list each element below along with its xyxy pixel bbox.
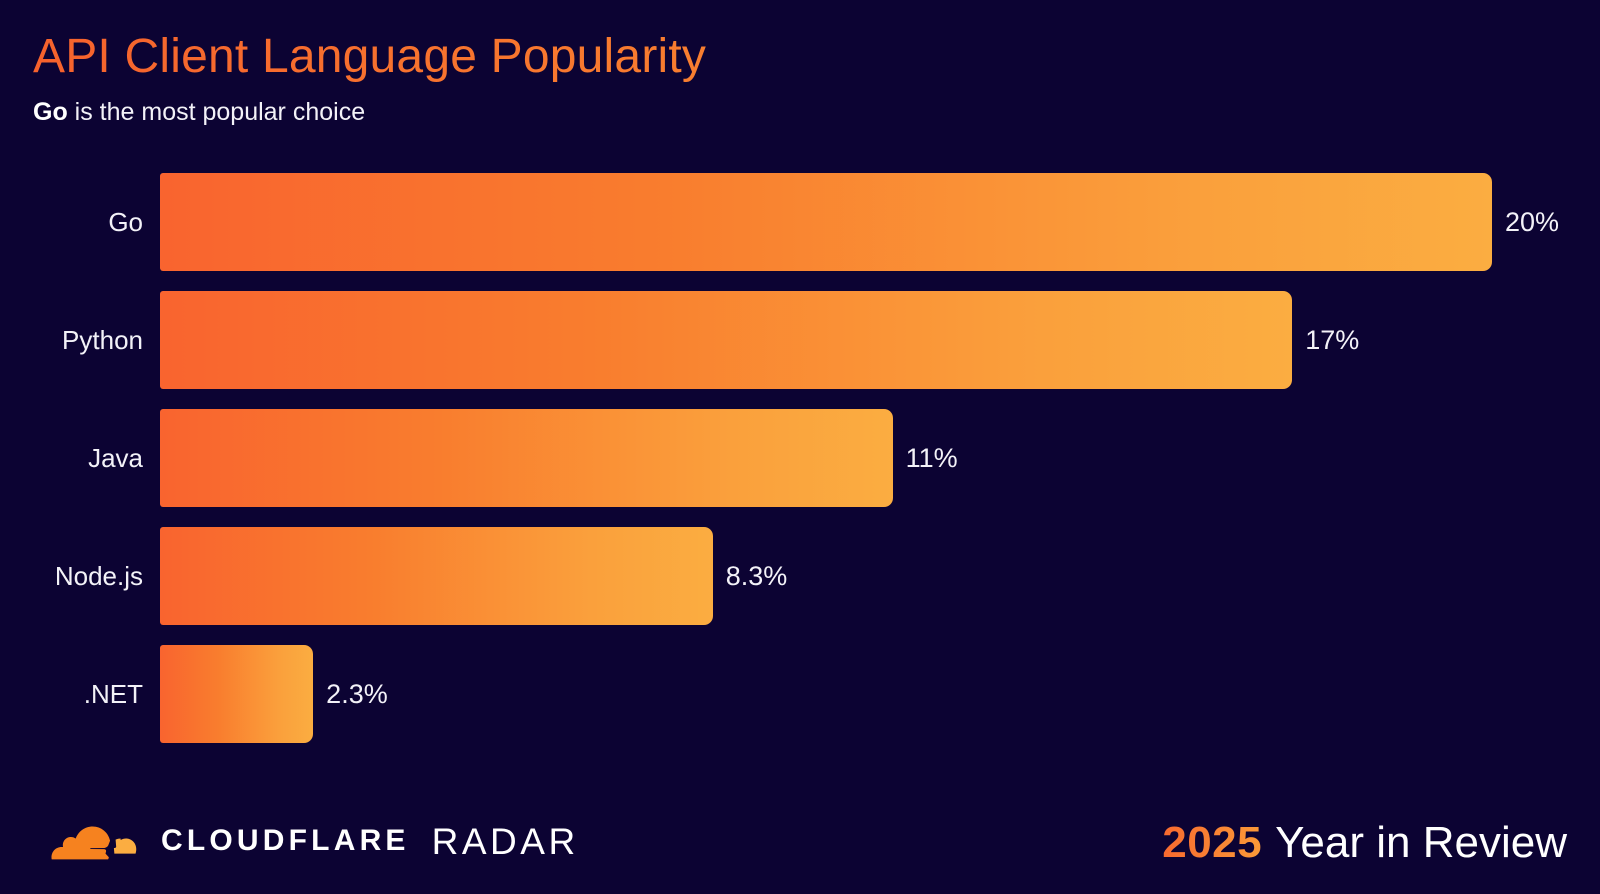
bar-chart-plot: Go20%Python17%Java11%Node.js8.3%.NET2.3% [0, 173, 1600, 763]
chart-footer: CLOUDFLARE RADAR 2025 Year in Review [0, 784, 1600, 894]
bar-row: Java11% [0, 409, 1600, 507]
year-label: 2025 [1162, 818, 1262, 868]
bar-category-label: Node.js [0, 561, 143, 592]
chart-subtitle: Go is the most popular choice [33, 98, 1433, 127]
bar[interactable] [160, 173, 1492, 271]
bar-category-label: .NET [0, 679, 143, 710]
bar-value-label: 20% [1505, 207, 1559, 238]
bar-track: 20% [160, 173, 1600, 271]
bar-track: 17% [160, 291, 1600, 389]
bar-row: Node.js8.3% [0, 527, 1600, 625]
cloudflare-cloud-icon [35, 816, 147, 866]
cloudflare-wordmark: CLOUDFLARE [161, 826, 410, 856]
bar-row: Python17% [0, 291, 1600, 389]
bar-track: 11% [160, 409, 1600, 507]
bar-category-label: Java [0, 443, 143, 474]
radar-chart-card: API Client Language Popularity Go is the… [0, 0, 1600, 894]
bar[interactable] [160, 409, 893, 507]
bar-category-label: Go [0, 207, 143, 238]
bar-value-label: 2.3% [326, 679, 388, 710]
bar[interactable] [160, 291, 1292, 389]
bar-row: .NET2.3% [0, 645, 1600, 743]
bar-value-label: 8.3% [726, 561, 788, 592]
page-title: API Client Language Popularity [33, 30, 1433, 84]
year-in-review-brand: 2025 Year in Review [1162, 818, 1567, 868]
chart-subtitle-rest: is the most popular choice [68, 98, 365, 126]
year-in-review-label: Year in Review [1275, 818, 1567, 868]
bar-value-label: 17% [1305, 325, 1359, 356]
bar-value-label: 11% [906, 443, 958, 474]
bar-category-label: Python [0, 325, 143, 356]
radar-wordmark: RADAR [432, 823, 579, 860]
bar-track: 2.3% [160, 645, 1600, 743]
chart-subtitle-highlight: Go [33, 98, 68, 126]
cloudflare-radar-brand: CLOUDFLARE RADAR [35, 816, 579, 866]
bar[interactable] [160, 527, 713, 625]
chart-header: API Client Language Popularity Go is the… [33, 30, 1433, 127]
bar-row: Go20% [0, 173, 1600, 271]
bar-track: 8.3% [160, 527, 1600, 625]
bar[interactable] [160, 645, 313, 743]
